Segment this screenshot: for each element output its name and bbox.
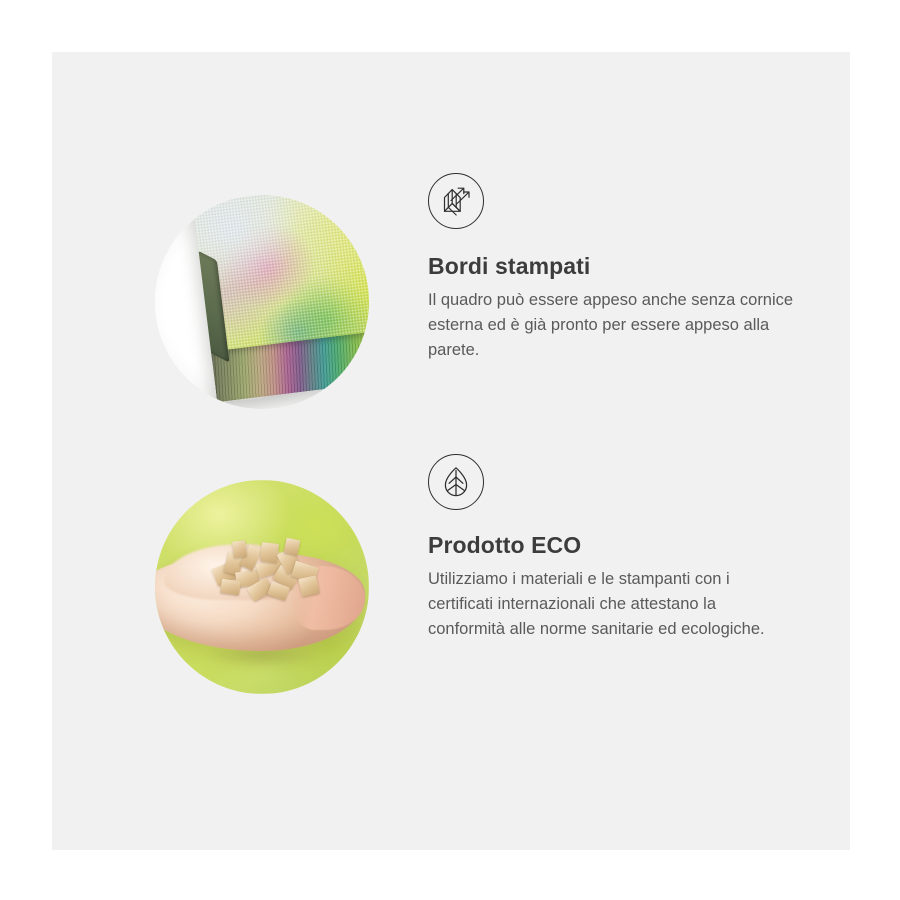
printed-edges-glyph bbox=[439, 184, 473, 218]
feature-description: Il quadro può essere appeso anche senza … bbox=[428, 288, 794, 363]
canvas-print-corner-photo bbox=[155, 195, 369, 409]
wood-chips-pile bbox=[206, 538, 326, 606]
wood-chips-in-hands-photo bbox=[155, 480, 369, 694]
feature-text-column: Bordi stampati Il quadro può essere appe… bbox=[428, 142, 794, 363]
feature-image-wrapper bbox=[155, 480, 369, 694]
feature-block-printed-edges: Bordi stampati Il quadro può essere appe… bbox=[52, 142, 850, 422]
feature-block-eco-product: Prodotto ECO Utilizziamo i materiali e l… bbox=[52, 427, 850, 707]
product-feature-infographic: Bordi stampati Il quadro può essere appe… bbox=[0, 0, 900, 900]
printed-edges-icon bbox=[428, 173, 484, 229]
leaf-glyph bbox=[439, 465, 473, 499]
canvas-block bbox=[192, 195, 369, 403]
feature-image-wrapper bbox=[155, 195, 369, 409]
feature-text-column: Prodotto ECO Utilizziamo i materiali e l… bbox=[428, 427, 794, 642]
feature-description: Utilizziamo i materiali e le stampanti c… bbox=[428, 567, 794, 642]
feature-title: Bordi stampati bbox=[428, 253, 794, 280]
leaf-icon bbox=[428, 454, 484, 510]
feature-title: Prodotto ECO bbox=[428, 532, 794, 559]
content-panel: Bordi stampati Il quadro può essere appe… bbox=[52, 52, 850, 850]
